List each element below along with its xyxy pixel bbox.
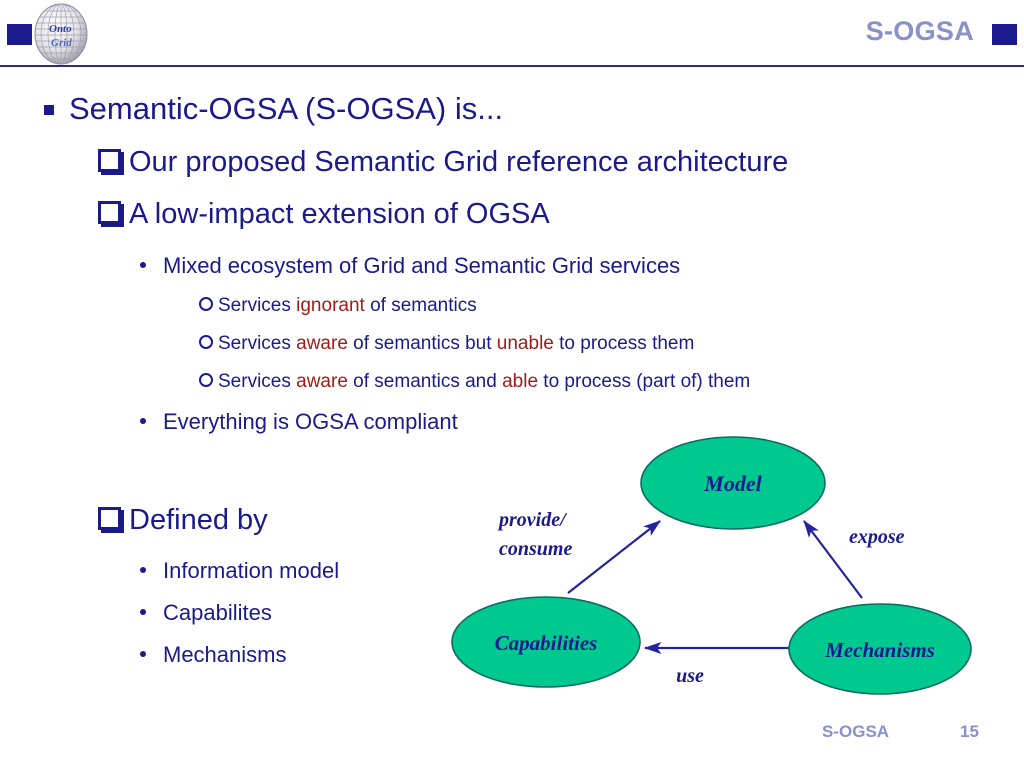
- dot-bullet-icon: [140, 567, 146, 573]
- l4c-post: to process (part of) them: [538, 371, 750, 392]
- bullet-level3-information-model: Information model: [140, 558, 339, 584]
- l4c-pre: Services: [218, 371, 296, 392]
- circle-bullet-icon: [199, 373, 213, 387]
- dot-bullet-icon: [140, 651, 146, 657]
- bullet-level2-label-a: Our proposed Semantic Grid reference arc…: [129, 146, 788, 178]
- dot-bullet-icon: [140, 262, 146, 268]
- bullet-level3-label-a: Mixed ecosystem of Grid and Semantic Gri…: [163, 253, 680, 278]
- bullet-level2-low-impact: A low-impact extension of OGSA: [98, 198, 550, 231]
- bullet-level4-aware-unable: Services aware of semantics but unable t…: [199, 333, 694, 355]
- edge-label-provide: provide/: [497, 509, 568, 531]
- sogsa-triangle-diagram: Model Capabilities Mechanisms provide/ c…: [440, 420, 1024, 710]
- ontogrid-globe-logo: Onto Grid: [28, 3, 94, 65]
- bullet-level3-label-b: Everything is OGSA compliant: [163, 409, 458, 434]
- node-model-label: Model: [703, 471, 762, 496]
- circle-bullet-icon: [199, 297, 213, 311]
- node-capabilities: Capabilities: [452, 597, 640, 687]
- l4a-post: of semantics: [365, 295, 477, 316]
- bullet-level3-mechanisms: Mechanisms: [140, 642, 286, 668]
- bullet-level1-title: Semantic-OGSA (S-OGSA) is...: [44, 91, 503, 127]
- bullet-level2-label-b: A low-impact extension of OGSA: [129, 198, 550, 230]
- hollow-square-bullet-icon: [98, 201, 121, 224]
- svg-text:Onto: Onto: [49, 23, 72, 35]
- svg-text:Grid: Grid: [51, 37, 72, 49]
- bullet-level3-label-d: Capabilites: [163, 600, 272, 625]
- slide: Onto Grid S-OGSA Semantic-OGSA (S-OGSA) …: [0, 0, 1024, 768]
- node-mechanisms: Mechanisms: [789, 604, 971, 694]
- l4a-pre: Services: [218, 295, 296, 316]
- header-title: S-OGSA: [866, 16, 974, 47]
- bullet-level4-aware-able: Services aware of semantics and able to …: [199, 371, 750, 393]
- bullet-level1-label: Semantic-OGSA (S-OGSA) is...: [69, 91, 503, 126]
- slide-footer: S-OGSA 15: [0, 712, 1024, 752]
- bullet-level3-label-e: Mechanisms: [163, 642, 286, 667]
- hollow-square-bullet-icon: [98, 507, 121, 530]
- l4b-mid: of semantics but: [348, 333, 497, 354]
- footer-title: S-OGSA: [822, 722, 889, 742]
- dot-bullet-icon: [140, 418, 146, 424]
- l4b-keyword-unable: unable: [497, 333, 554, 354]
- bullet-level3-mixed-ecosystem: Mixed ecosystem of Grid and Semantic Gri…: [140, 253, 680, 279]
- header-square-right-icon: [992, 24, 1017, 45]
- bullet-level3-capabilites: Capabilites: [140, 600, 272, 626]
- l4c-keyword-aware: aware: [296, 371, 348, 392]
- l4b-post: to process them: [554, 333, 694, 354]
- bullet-level3-ogsa-compliant: Everything is OGSA compliant: [140, 409, 458, 435]
- dot-bullet-icon: [140, 609, 146, 615]
- edge-label-expose: expose: [849, 526, 905, 548]
- bullet-level3-label-c: Information model: [163, 558, 339, 583]
- bullet-level2-defined-by: Defined by: [98, 504, 268, 537]
- edge-label-consume: consume: [499, 538, 572, 560]
- slide-header: Onto Grid S-OGSA: [0, 0, 1024, 67]
- l4b-pre: Services: [218, 333, 296, 354]
- square-bullet-icon: [44, 105, 54, 115]
- bullet-level2-label-c: Defined by: [129, 504, 268, 536]
- l4c-keyword-able: able: [502, 371, 538, 392]
- node-mechanisms-label: Mechanisms: [824, 638, 935, 662]
- edge-provide-consume: [568, 521, 660, 593]
- footer-page-number: 15: [960, 722, 979, 742]
- hollow-square-bullet-icon: [98, 149, 121, 172]
- l4a-keyword-ignorant: ignorant: [296, 295, 365, 316]
- l4b-keyword-aware: aware: [296, 333, 348, 354]
- node-capabilities-label: Capabilities: [495, 631, 598, 655]
- bullet-level2-proposed-arch: Our proposed Semantic Grid reference arc…: [98, 146, 788, 179]
- l4c-mid: of semantics and: [348, 371, 502, 392]
- circle-bullet-icon: [199, 335, 213, 349]
- bullet-level4-ignorant: Services ignorant of semantics: [199, 295, 477, 317]
- edge-label-use: use: [676, 665, 704, 687]
- node-model: Model: [641, 437, 825, 529]
